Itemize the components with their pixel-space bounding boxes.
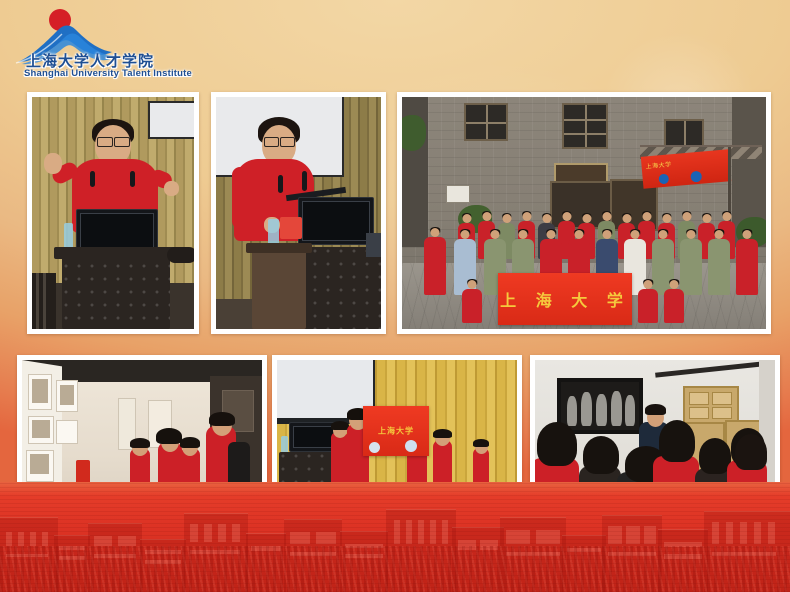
ceremony-flag-text: 上海大学 — [363, 426, 429, 437]
skyline-decoration — [0, 482, 790, 592]
institute-logo: 上海大学人才学院 Shanghai University Talent Inst… — [12, 6, 192, 84]
historic-photograph — [557, 378, 643, 434]
group-banner-text: 上 海 大 学 — [498, 287, 632, 311]
group-banner: 上 海 大 学 — [498, 273, 632, 325]
collage-canvas: 上海大学人才学院 Shanghai University Talent Inst… — [0, 0, 790, 592]
logo-name-en: Shanghai University Talent Institute — [24, 68, 192, 79]
photo-student-speaker[interactable]: Young man in red polo speaking at podium… — [211, 92, 386, 334]
photo-group-memorial[interactable]: 上海大学 — [397, 92, 771, 334]
small-flag-text: 上海大学 — [645, 159, 672, 170]
photo-lecture-speaker[interactable]: Man in red polo shirt speaking at a wood… — [27, 92, 199, 334]
